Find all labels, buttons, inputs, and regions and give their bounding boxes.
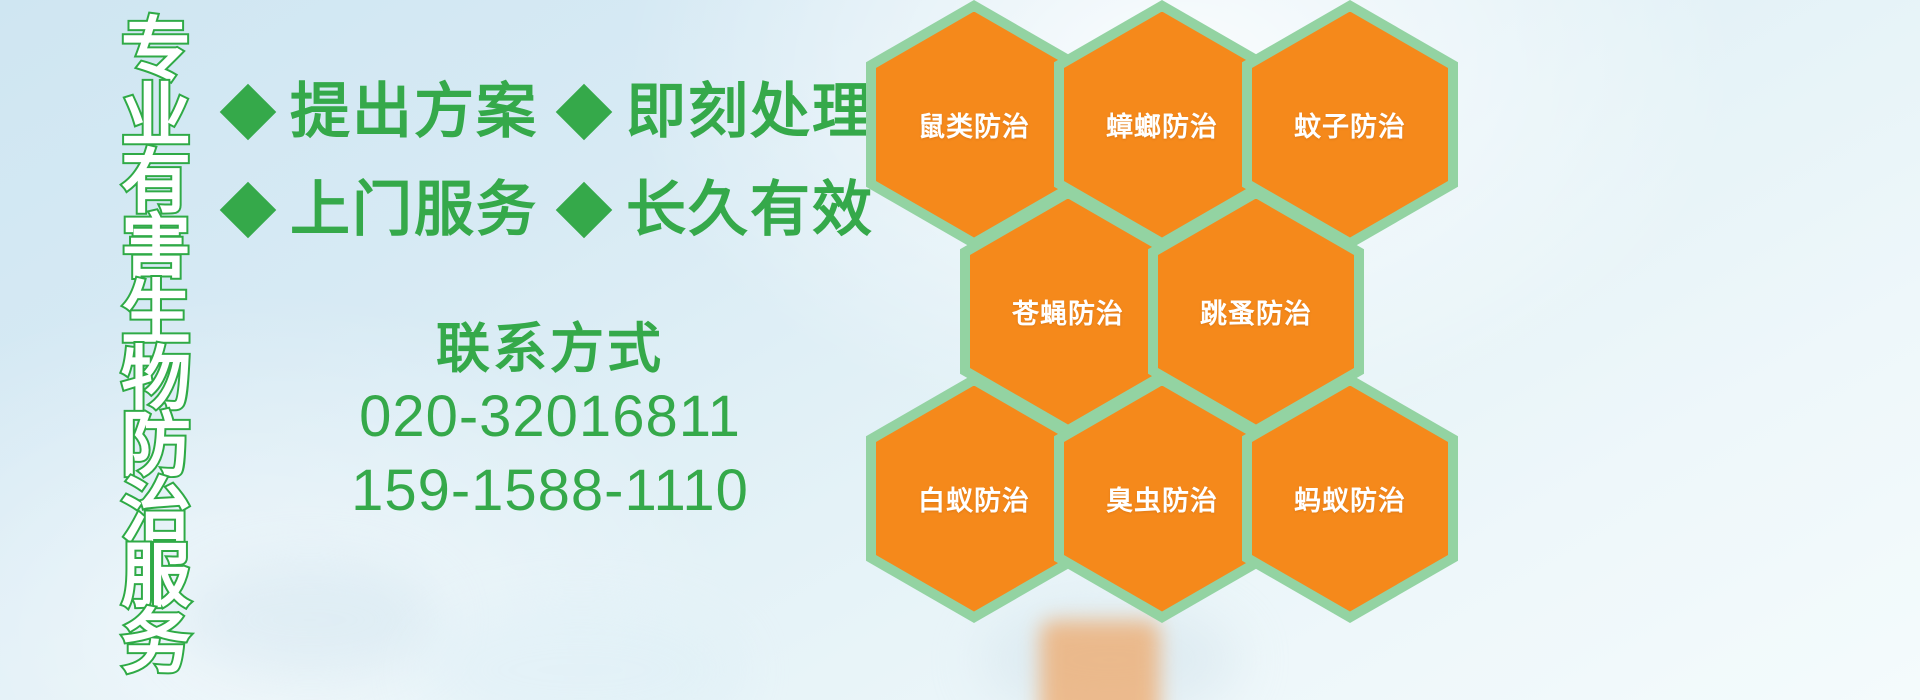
feature-item: 上门服务 — [228, 180, 538, 240]
diamond-icon — [556, 182, 613, 239]
pest-control-banner: 专 业 有 害 生 物 防 治 服 务 提出方案 即刻处理 上门服务 — [0, 0, 1920, 700]
service-label: 臭虫防治 — [1106, 479, 1218, 518]
vertical-title-char: 有 — [121, 150, 191, 216]
vertical-title-char: 防 — [121, 413, 191, 479]
service-label: 蟑螂防治 — [1106, 105, 1218, 144]
hex-inner: 白蚁防治 — [876, 386, 1072, 612]
service-label: 苍蝇防治 — [1012, 292, 1124, 331]
service-label: 白蚁防治 — [918, 479, 1030, 518]
diamond-icon — [220, 84, 277, 141]
background-blob — [180, 560, 440, 680]
service-honeycomb: 鼠类防治 蟑螂防治 蚊子防治 苍蝇防治 跳蚤防治 白蚁防治 — [860, 0, 1460, 552]
vertical-title: 专 业 有 害 生 物 防 治 服 务 — [110, 18, 202, 676]
diamond-icon — [220, 182, 277, 239]
feature-item: 即刻处理 — [564, 82, 874, 142]
vertical-title-char: 害 — [121, 215, 191, 281]
feature-row: 上门服务 长久有效 — [228, 180, 874, 240]
feature-bullets: 提出方案 即刻处理 上门服务 长久有效 — [228, 82, 874, 278]
vertical-title-char: 治 — [121, 479, 191, 545]
hex-inner: 蚂蚁防治 — [1252, 386, 1448, 612]
vertical-title-char: 专 — [121, 18, 191, 84]
feature-label: 提出方案 — [290, 82, 538, 142]
phone-number-landline[interactable]: 020-32016811 — [300, 380, 800, 454]
feature-label: 上门服务 — [290, 180, 538, 240]
service-label: 蚂蚁防治 — [1294, 479, 1406, 518]
background-blob — [420, 600, 740, 700]
vertical-title-char: 物 — [121, 347, 191, 413]
diamond-icon — [556, 84, 613, 141]
vertical-title-char: 业 — [121, 84, 191, 150]
vertical-title-char: 服 — [121, 544, 191, 610]
service-label: 蚊子防治 — [1294, 105, 1406, 144]
background-orange-shape — [1040, 620, 1160, 700]
contact-block: 联系方式 020-32016811 159-1588-1110 — [300, 318, 800, 529]
feature-item: 提出方案 — [228, 82, 538, 142]
feature-item: 长久有效 — [564, 180, 874, 240]
service-label: 跳蚤防治 — [1200, 292, 1312, 331]
feature-label: 长久有效 — [626, 180, 874, 240]
vertical-title-char: 生 — [121, 281, 191, 347]
feature-label: 即刻处理 — [626, 82, 874, 142]
vertical-title-char: 务 — [121, 610, 191, 676]
phone-number-mobile[interactable]: 159-1588-1110 — [300, 454, 800, 528]
hex-inner: 臭虫防治 — [1064, 386, 1260, 612]
service-label: 鼠类防治 — [918, 105, 1030, 144]
feature-row: 提出方案 即刻处理 — [228, 82, 874, 142]
contact-title: 联系方式 — [300, 318, 800, 380]
